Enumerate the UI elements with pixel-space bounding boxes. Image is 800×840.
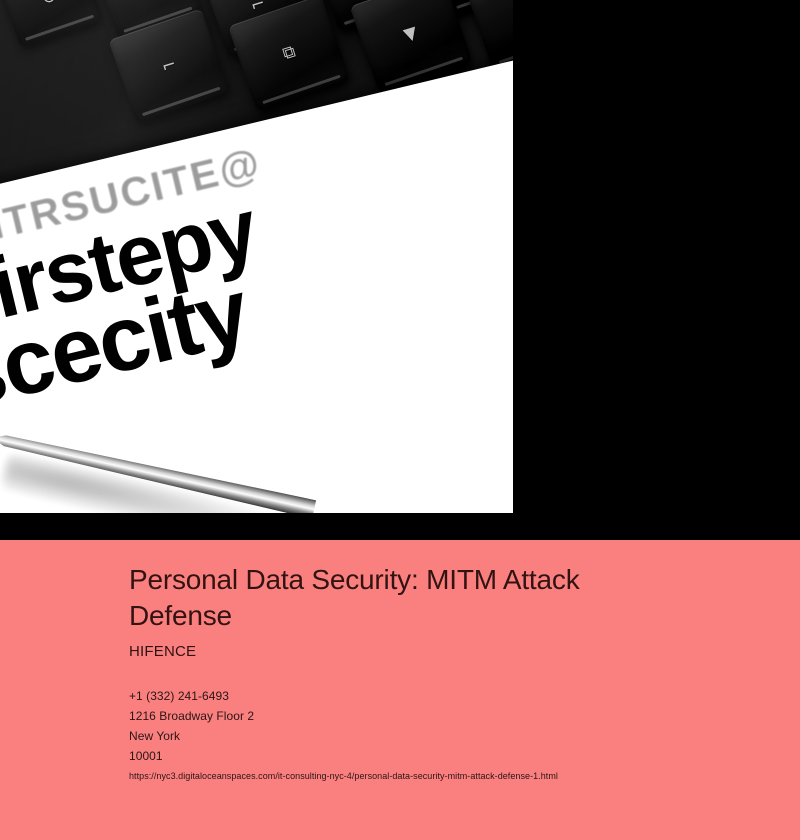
keycap-glyph-icon: ⌐ [160,56,179,76]
brand-name: HIFENCE [129,642,760,662]
info-content: Personal Data Security: MITM Attack Defe… [129,562,760,783]
page-title: Personal Data Security: MITM Attack Defe… [129,562,689,634]
contact-city: New York [129,726,760,746]
letterbox-bottom-band [0,513,513,540]
hero-photo-canvas: ⊖ ⌐ ▸ ⋈ ⌐ ⧉ ▼ [0,0,513,513]
contact-block: +1 (332) 241-6493 1216 Broadway Floor 2 … [129,686,760,766]
contact-street: 1216 Broadway Floor 2 [129,706,760,726]
keycap-glyph-icon: ⊖ [40,0,59,7]
letterbox-right [513,0,800,540]
hero-image: ⊖ ⌐ ▸ ⋈ ⌐ ⧉ ▼ [0,0,513,513]
keycap-glyph-icon: ▼ [402,24,419,44]
document-preview-page: ⊖ ⌐ ▸ ⋈ ⌐ ⧉ ▼ [0,0,800,840]
source-url: https://nyc3.digitaloceanspaces.com/it-c… [129,770,760,783]
info-panel: Personal Data Security: MITM Attack Defe… [0,540,800,840]
keycap-glyph-icon: ⧉ [281,43,298,63]
contact-phone: +1 (332) 241-6493 [129,686,760,706]
contact-zip: 10001 [129,746,760,766]
